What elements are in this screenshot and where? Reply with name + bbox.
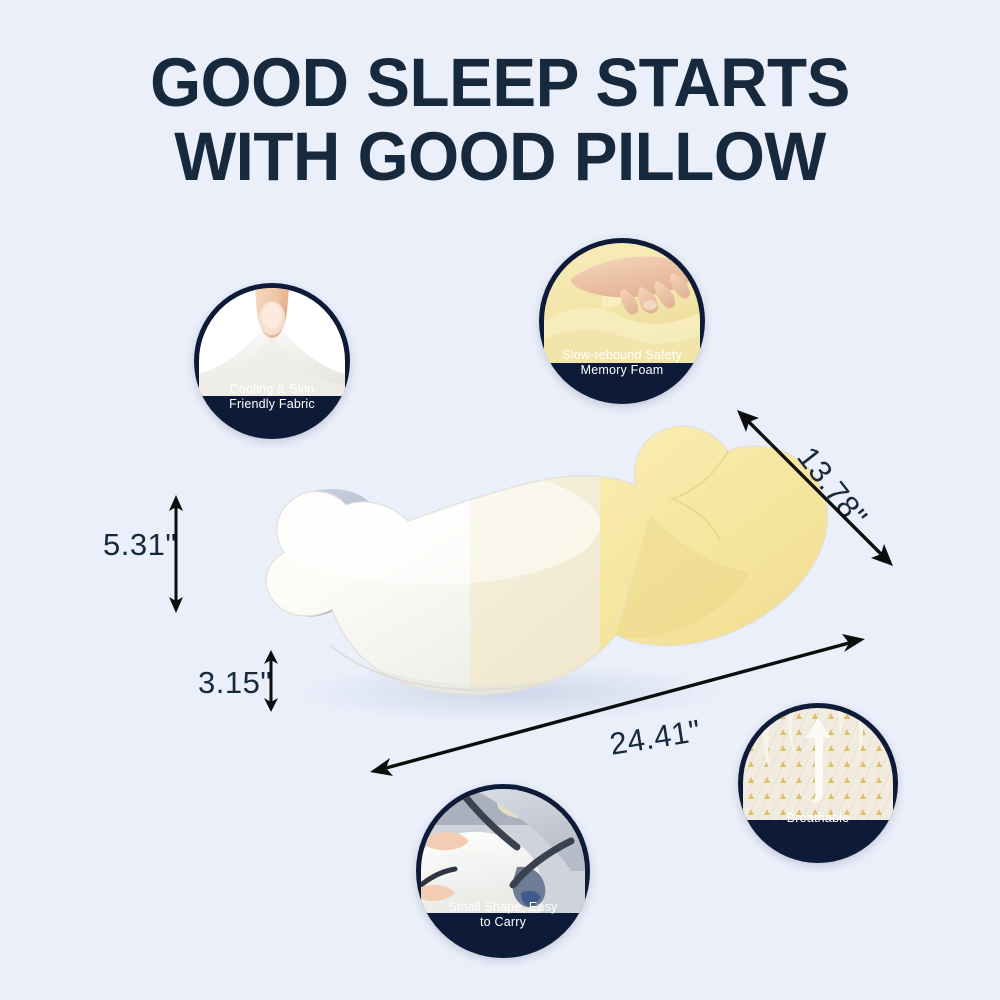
feature-badge-cooling-caption: Cooling & Skin Friendly Fabric: [194, 382, 350, 412]
feature-badge-carry[interactable]: Small Shape, Easy to Carry: [416, 784, 590, 958]
dimension-thickness-label: 3.15": [198, 665, 272, 701]
feature-badge-cooling[interactable]: Cooling & Skin Friendly Fabric: [194, 283, 350, 439]
caption-line-1: Small Shape, Easy: [416, 900, 590, 915]
dimension-depth-arrow: [735, 408, 895, 568]
page-title: GOOD SLEEP STARTS WITH GOOD PILLOW: [0, 46, 1000, 194]
hand-pressing-foam-icon: [544, 243, 700, 363]
caption-line-2: to Carry: [416, 915, 590, 930]
dimension-height-label: 5.31": [103, 527, 177, 563]
caption-line-1: Cooling & Skin: [194, 382, 350, 397]
feature-badge-breathable-caption: Breathable: [738, 811, 898, 826]
feature-badge-memory-foam[interactable]: Slow-rebound Safety Memory Foam: [539, 238, 705, 404]
infographic-canvas: GOOD SLEEP STARTS WITH GOOD PILLOW: [0, 0, 1000, 1000]
caption-line-2: Friendly Fabric: [194, 397, 350, 412]
finger-on-fabric-icon: [199, 288, 345, 396]
feature-badge-breathable[interactable]: Breathable: [738, 703, 898, 863]
headline-line-2: WITH GOOD PILLOW: [25, 120, 975, 194]
headline-line-1: GOOD SLEEP STARTS: [25, 46, 975, 120]
caption-line-1: Breathable: [738, 811, 898, 826]
feature-badge-memory-foam-caption: Slow-rebound Safety Memory Foam: [539, 348, 705, 378]
caption-line-1: Slow-rebound Safety: [539, 348, 705, 363]
pillow-in-bag-icon: [421, 789, 585, 913]
feature-badge-carry-caption: Small Shape, Easy to Carry: [416, 900, 590, 930]
caption-line-2: Memory Foam: [539, 363, 705, 378]
mesh-fabric-airflow-icon: [743, 708, 893, 820]
dimension-thickness-arrow: [262, 650, 280, 712]
dimension-height-arrow: [167, 495, 185, 613]
